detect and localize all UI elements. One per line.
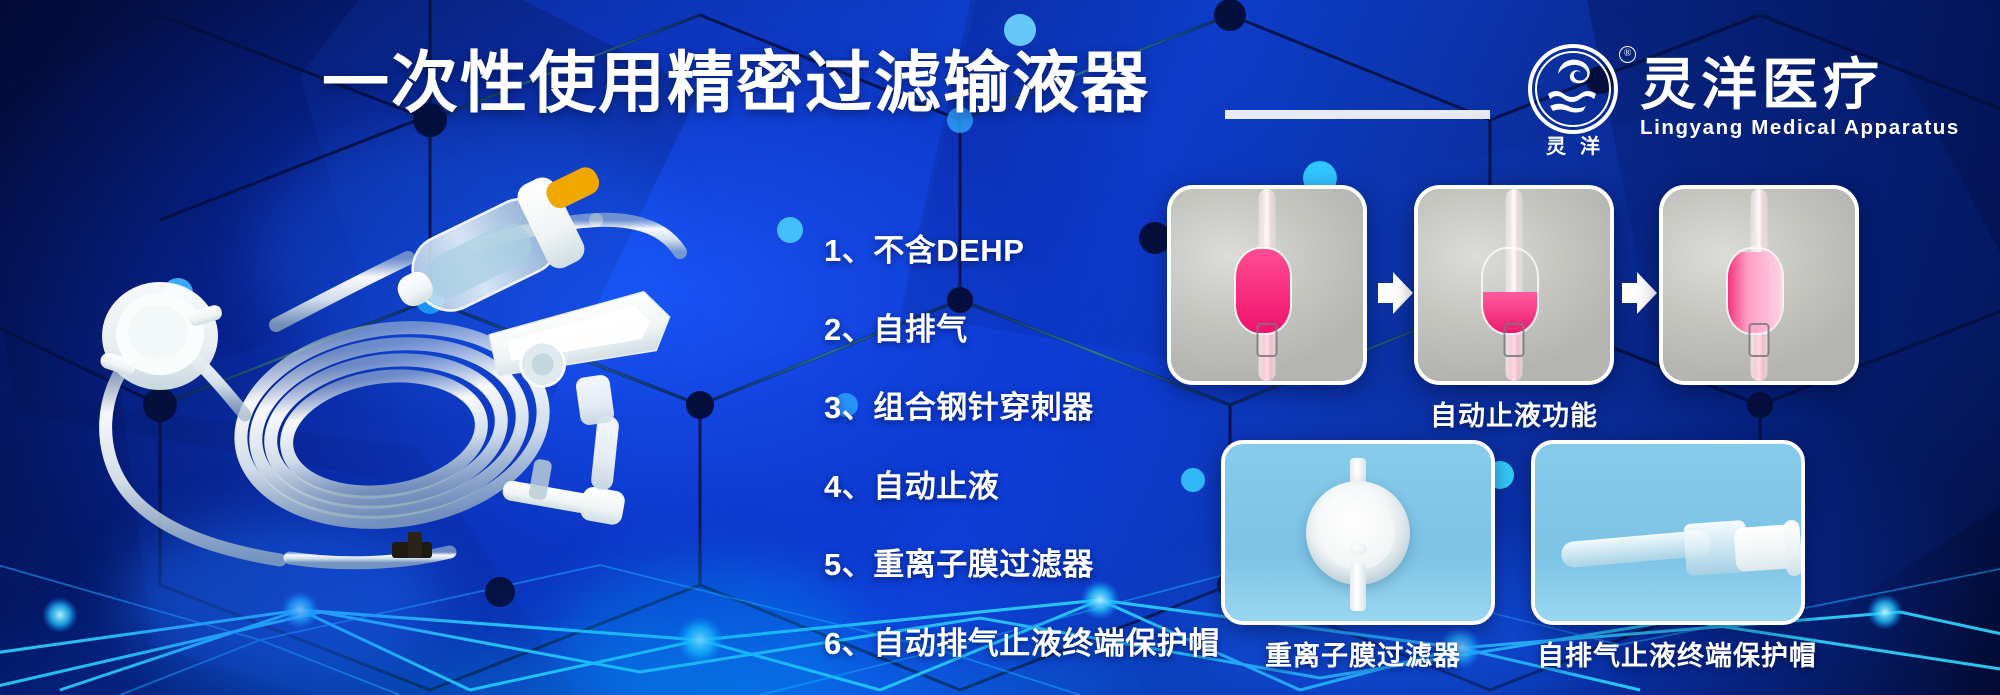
feature-item-5: 5、重离子膜过滤器 (824, 539, 1220, 584)
logo-mark-subtext: 灵洋 (1528, 130, 1618, 159)
detail-caption-filter: 重离子膜过滤器 (1265, 634, 1461, 673)
feature-item-3: 3、组合钢针穿刺器 (824, 382, 1220, 427)
membrane-filter-membrane (1321, 496, 1395, 570)
right-arrow-icon (1378, 272, 1412, 314)
logo-mark: ® 灵洋 (1528, 44, 1624, 152)
company-name-en: Lingyang Medical Apparatus (1640, 116, 1960, 140)
feature-item-1: 1、不含DEHP (824, 225, 1220, 270)
filter-outlet-stem (1350, 563, 1366, 611)
feature-item-6: 6、自动排气止液终端保护帽 (824, 618, 1220, 663)
detail-photo-filter (1221, 440, 1495, 625)
feature-item-2: 2、自排气 (824, 304, 1220, 349)
auto-stop-chamber (1726, 247, 1784, 335)
auto-stop-chamber (1481, 247, 1539, 335)
clip (1504, 323, 1525, 357)
clip (1749, 323, 1770, 357)
company-name-cn: 灵洋医疗 (1640, 56, 1960, 115)
fluid-level (1728, 252, 1782, 333)
sequence-photo-1 (1167, 185, 1367, 385)
small-connector-part (575, 374, 620, 491)
product-banner: 一次性使用精密过滤输液器 ® 灵洋 灵洋医疗 Lingyang Medical … (0, 0, 2000, 695)
feature-list: 1、不含DEHP 2、自排气 3、组合钢针穿刺器 4、自动止液 5、重离子膜过滤… (824, 225, 1220, 663)
membrane-filter-nub (1349, 543, 1367, 555)
auto-stop-chamber (1234, 247, 1292, 335)
tubing-tag-part (392, 532, 432, 558)
right-arrow-icon (1622, 272, 1656, 314)
logo-wordmark: 灵洋医疗 Lingyang Medical Apparatus (1640, 56, 1960, 141)
sequence-photo-3 (1659, 185, 1859, 385)
infusion-set-product-photo (40, 160, 800, 580)
registered-trademark-icon: ® (1619, 46, 1636, 63)
sequence-caption: 自动止液功能 (1430, 394, 1598, 433)
detail-photo-cap (1531, 440, 1805, 625)
fluid-level (1236, 249, 1290, 333)
feature-item-4: 4、自动止液 (824, 461, 1220, 506)
wave-circle-logo-icon (1528, 44, 1618, 134)
detail-caption-cap: 自排气止液终端保护帽 (1537, 634, 1817, 673)
clip (1257, 323, 1278, 357)
banner-title: 一次性使用精密过滤输液器 (322, 50, 1150, 117)
sequence-photo-2 (1414, 185, 1614, 385)
company-logo: ® 灵洋 灵洋医疗 Lingyang Medical Apparatus (1528, 44, 1960, 152)
